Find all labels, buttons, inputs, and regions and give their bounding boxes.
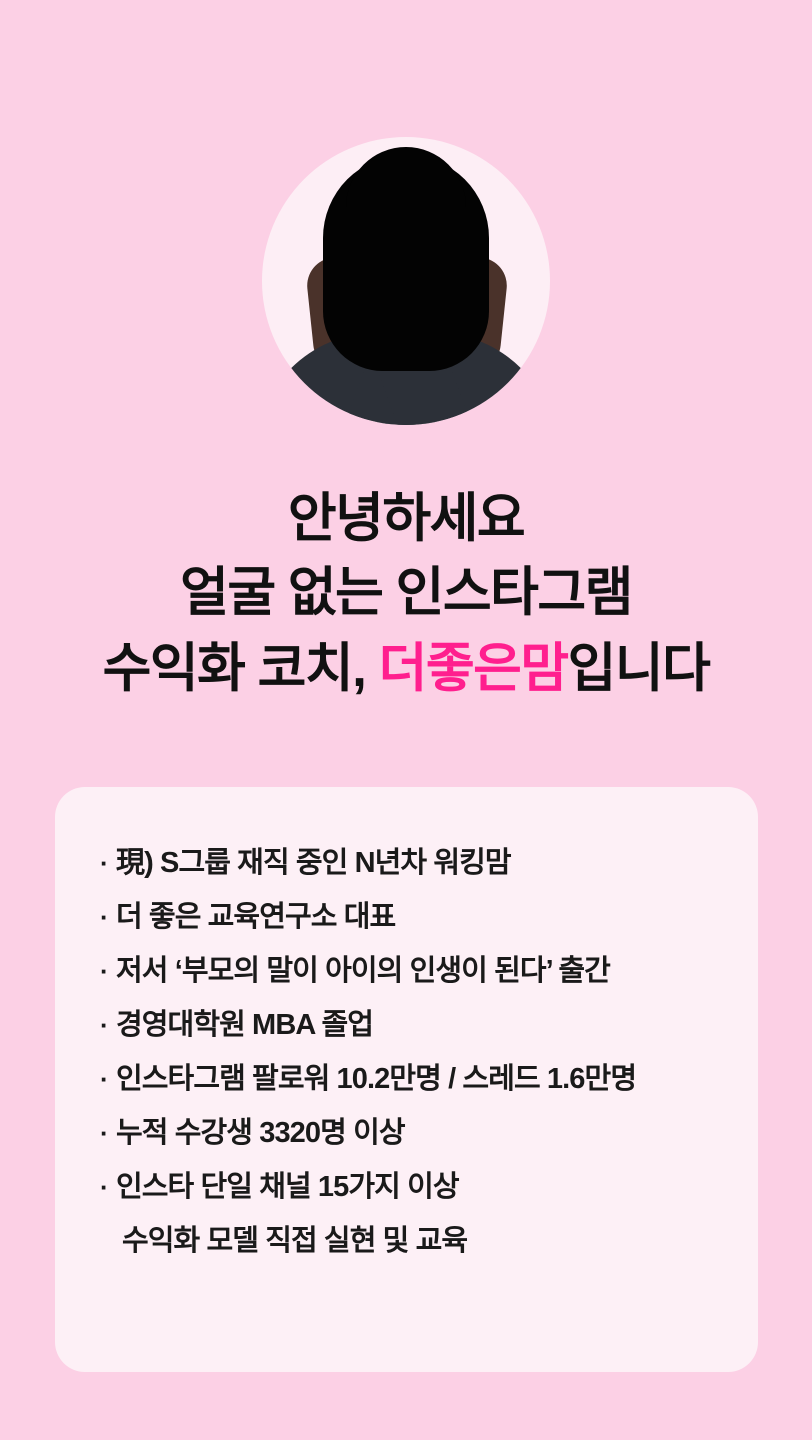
list-item-continuation-label: 수익화 모델 직접 실현 및 교육 bbox=[122, 1217, 467, 1259]
list-item: · 現) S그룹 재직 중인 N년차 워킹맘 bbox=[100, 839, 718, 893]
list-item-label: 인스타그램 팔로워 10.2만명 / 스레드 1.6만명 bbox=[116, 1055, 636, 1097]
list-item-label: 저서 ‘부모의 말이 아이의 인생이 된다’ 출간 bbox=[116, 947, 610, 989]
headline-line-3-suffix: 입니다 bbox=[568, 639, 710, 698]
list-item: · 인스타 단일 채널 15가지 이상 bbox=[100, 1163, 718, 1217]
avatar bbox=[262, 137, 550, 425]
headline-line-3-prefix: 수익화 코치, bbox=[103, 639, 379, 698]
list-item-label: 경영대학원 MBA 졸업 bbox=[116, 1001, 373, 1043]
bullet-dot-icon: · bbox=[100, 1120, 116, 1146]
headline-line-2: 얼굴 없는 인스타그램 bbox=[0, 555, 812, 631]
bullet-dot-icon: · bbox=[100, 1012, 116, 1038]
bullet-dot-icon: · bbox=[100, 1174, 116, 1200]
profile-intro-page: 안녕하세요 얼굴 없는 인스타그램 수익화 코치, 더좋은맘입니다 · 現) S… bbox=[0, 0, 812, 1440]
list-item: · 인스타그램 팔로워 10.2만명 / 스레드 1.6만명 bbox=[100, 1055, 718, 1109]
avatar-photo bbox=[262, 137, 550, 425]
list-item-continuation: 수익화 모델 직접 실현 및 교육 bbox=[100, 1217, 718, 1271]
bullet-dot-icon: · bbox=[100, 904, 116, 930]
headline-line-3: 수익화 코치, 더좋은맘입니다 bbox=[0, 631, 812, 707]
list-item-label: 現) S그룹 재직 중인 N년차 워킹맘 bbox=[116, 839, 511, 881]
headline-line-1: 안녕하세요 bbox=[0, 483, 812, 555]
bullet-dot-icon: · bbox=[100, 958, 116, 984]
list-item: · 누적 수강생 3320명 이상 bbox=[100, 1109, 718, 1163]
list-item: · 더 좋은 교육연구소 대표 bbox=[100, 893, 718, 947]
profile-card: · 現) S그룹 재직 중인 N년차 워킹맘 · 더 좋은 교육연구소 대표 ·… bbox=[55, 787, 758, 1372]
brand-name: 더좋은맘 bbox=[379, 639, 568, 698]
list-item-label: 누적 수강생 3320명 이상 bbox=[116, 1109, 405, 1151]
bullet-dot-icon: · bbox=[100, 1066, 116, 1092]
list-item-label: 더 좋은 교육연구소 대표 bbox=[116, 893, 395, 935]
list-item: · 저서 ‘부모의 말이 아이의 인생이 된다’ 출간 bbox=[100, 947, 718, 1001]
list-item: · 경영대학원 MBA 졸업 bbox=[100, 1001, 718, 1055]
hair-top-shape bbox=[346, 147, 466, 217]
bullet-dot-icon: · bbox=[100, 850, 116, 876]
headline: 안녕하세요 얼굴 없는 인스타그램 수익화 코치, 더좋은맘입니다 bbox=[0, 483, 812, 707]
list-item-label: 인스타 단일 채널 15가지 이상 bbox=[116, 1163, 459, 1205]
